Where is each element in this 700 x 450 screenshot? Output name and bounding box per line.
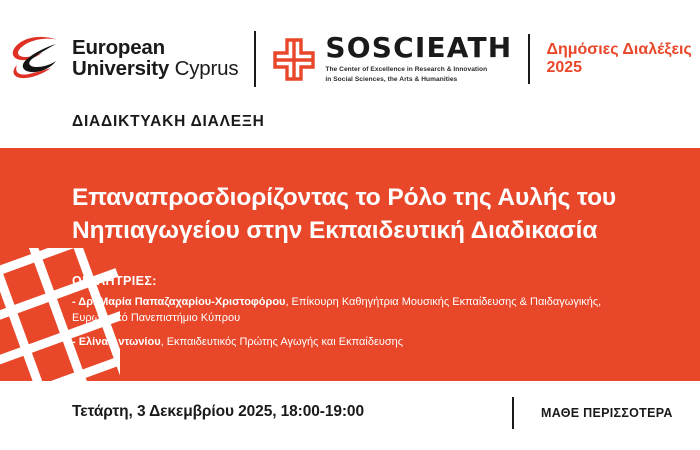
logo-row: European University Cyprus SOSCIEATH The…	[10, 28, 692, 90]
learn-more-link[interactable]: ΜΑΘΕ ΠΕΡΙΣΣΟΤΕΡΑ	[541, 406, 673, 420]
poster-main-band: Επαναπροσδιορίζοντας το Ρόλο της Αυλής τ…	[0, 148, 700, 381]
euc-line1: European	[72, 38, 238, 59]
soscieath-cross-logo-icon	[272, 36, 316, 82]
euc-line2: University Cyprus	[72, 59, 238, 80]
speaker-entry: - Δρ. Μαρία Παπαζαχαρίου-Χριστοφόρου, Επ…	[72, 295, 677, 327]
lecture-title-line2: Νηπιαγωγείου στην Εκπαιδευτική Διαδικασί…	[72, 215, 682, 248]
speaker-name: - Δρ. Μαρία Παπαζαχαρίου-Χριστοφόρου	[72, 296, 285, 308]
lecture-series-year: 2025	[546, 59, 691, 77]
soscieath-wordmark: SOSCIEATH The Center of Excellence in Re…	[325, 34, 512, 83]
soscieath-subtitle-line1: The Center of Excellence in Research & I…	[325, 66, 487, 73]
soscieath-subtitle: The Center of Excellence in Research & I…	[325, 65, 512, 83]
event-datetime: Τετάρτη, 3 Δεκεμβρίου 2025, 18:00-19:00	[72, 403, 364, 421]
soscieath-subtitle-line2: in Social Sciences, the Arts & Humanitie…	[325, 76, 457, 83]
header-divider-1	[254, 31, 256, 87]
euc-swoosh-logo-icon	[10, 35, 62, 83]
euc-line2-bold: University	[72, 57, 169, 80]
speaker-role: , Επίκουρη Καθηγήτρια Μουσικής Εκπαίδευσ…	[285, 296, 601, 308]
speakers-heading: ΟΜΙΛΗΤΡΙΕΣ:	[72, 274, 677, 288]
event-type-kicker: ΔΙΑΔΙΚΤΥΑΚΗ ΔΙΑΛΕΞΗ	[72, 113, 265, 131]
header-divider-2	[528, 34, 530, 84]
euc-wordmark: European University Cyprus	[72, 38, 238, 80]
lecture-series-label: Δημόσιες Διαλέξεις 2025	[546, 41, 691, 77]
speaker-affiliation: Ευρωπαϊκό Πανεπιστήμιο Κύπρου	[72, 312, 240, 324]
speaker-name: - Ελίνα Αντωνίου	[72, 336, 161, 348]
event-poster: European University Cyprus SOSCIEATH The…	[0, 0, 700, 450]
footer-divider	[512, 397, 514, 429]
speaker-entry: - Ελίνα Αντωνίου, Εκπαιδευτικός Πρώτης Α…	[72, 335, 677, 351]
speaker-role: , Εκπαιδευτικός Πρώτης Αγωγής και Εκπαίδ…	[161, 336, 403, 348]
lecture-title: Επαναπροσδιορίζοντας το Ρόλο της Αυλής τ…	[72, 182, 682, 247]
poster-header: European University Cyprus SOSCIEATH The…	[0, 0, 700, 148]
speakers-section: ΟΜΙΛΗΤΡΙΕΣ: - Δρ. Μαρία Παπαζαχαρίου-Χρι…	[72, 274, 677, 359]
poster-footer: Τετάρτη, 3 Δεκεμβρίου 2025, 18:00-19:00 …	[0, 381, 700, 450]
soscieath-title: SOSCIEATH	[325, 34, 512, 62]
lecture-series-line1: Δημόσιες Διαλέξεις	[546, 41, 691, 59]
euc-line2-light: Cyprus	[175, 57, 239, 80]
lecture-title-line1: Επαναπροσδιορίζοντας το Ρόλο της Αυλής τ…	[72, 182, 682, 215]
